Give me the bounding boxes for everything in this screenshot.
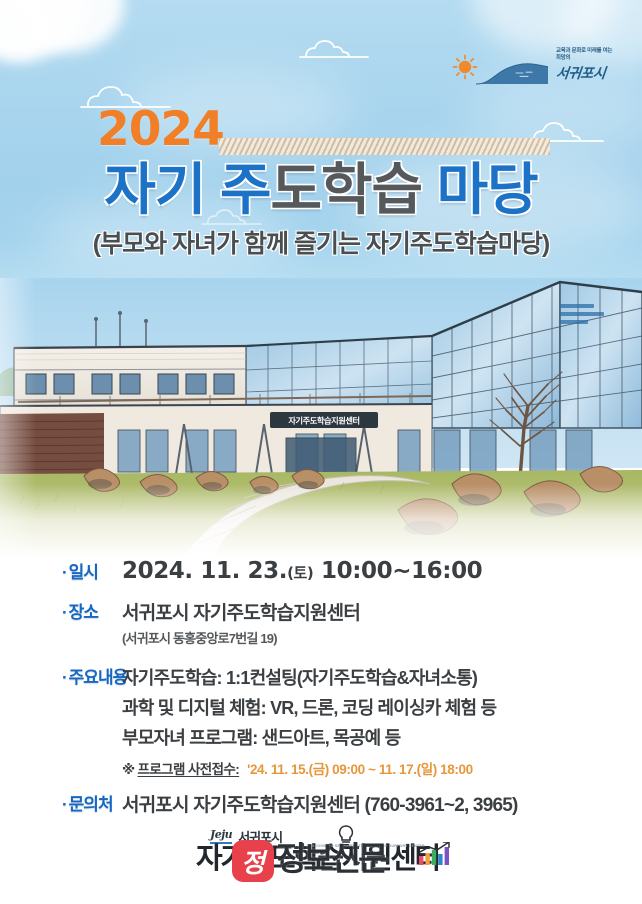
label-place: ·장소 [0,598,118,623]
jeju-wordmark: Jeju [210,828,232,844]
place-address: (서귀포시 동홍중앙로7번길 19) [122,628,642,647]
date-value: 2024. 11. 23.(토) 10:00~16:00 [122,558,642,584]
place-name: 서귀포시 자기주도학습지원센터 [122,598,642,625]
ci-text-block: 교육과 문화로 미래를 여는 희망의 서귀포시 [556,48,632,83]
ci-slogan-line2: 희망의 [556,55,632,62]
date-time: 10:00~16:00 [313,558,482,584]
year-text: 2024 [97,106,224,153]
seogwipo-city-logo: 교육과 문화로 미래를 여는 희망의 서귀포시 [452,46,630,94]
bullet-icon: · [62,668,67,687]
info-section: ·일시 2024. 11. 23.(토) 10:00~16:00 ·장소 서귀포… [0,558,642,817]
decorative-stripe-bar [219,138,550,155]
label-contact: ·문의처 [0,790,118,815]
ci-slogan: 교육과 문화로 미래를 여는 희망의 [556,48,632,62]
ci-city-name: 서귀포시 [555,63,633,83]
building-sign-text: 자기주도학습지원센터 [288,416,359,426]
info-row-place: ·장소 서귀포시 자기주도학습지원센터 (서귀포시 동홍중앙로7번길 19) [0,598,642,647]
info-row-content: ·주요내용 자기주도학습: 1:1컨설팅(자기주도학습&자녀소통) 과학 및 디… [0,663,642,778]
value-place: 서귀포시 자기주도학습지원센터 (서귀포시 동홍중앙로7번길 19) [118,598,642,647]
program-line: 과학 및 디지털 체험: VR, 드론, 코딩 레이싱카 체험 등 [122,693,642,723]
label-contact-text: 문의처 [69,795,113,814]
outline-cloud-icon [296,36,372,60]
building-illustration: 자기주도학습지원센터 [0,278,642,558]
watermark-badge-icon: 정 [232,840,274,882]
info-row-date: ·일시 2024. 11. 23.(토) 10:00~16:00 [0,558,642,584]
date-weekday: (토) [287,564,313,582]
program-line: 부모자녀 프로그램: 샌드아트, 목공예 등 [122,723,642,753]
bullet-icon: · [62,603,67,622]
bullet-icon: · [62,563,67,582]
main-title-part2: 도학습 [270,158,422,221]
label-place-text: 장소 [69,603,98,622]
main-title-part3: 마당 [422,158,538,221]
value-date: 2024. 11. 23.(토) 10:00~16:00 [118,558,642,584]
hallasan-mountain-icon [476,58,550,86]
event-poster: 교육과 문화로 미래를 여는 희망의 서귀포시 2024 자기 주도학습 마당 … [0,0,642,904]
main-title-part1: 자기 주 [104,158,270,221]
asterisk-icon: ※ [122,762,135,777]
value-content: 자기주도학습: 1:1컨설팅(자기주도학습&자녀소통) 과학 및 디지털 체험:… [118,663,642,778]
value-contact: 서귀포시 자기주도학습지원센터 (760-3961~2, 3965) [118,790,642,817]
sun-icon [452,54,478,80]
watermark-badge-glyph: 정 [232,840,274,882]
prereg-label: 프로그램 사전접수: [138,762,240,777]
info-row-contact: ·문의처 서귀포시 자기주도학습지원센터 (760-3961~2, 3965) [0,790,642,817]
subtitle-text: (부모와 자녀가 함께 즐기는 자기주도학습마당) [0,224,642,260]
bullet-icon: · [62,795,67,814]
label-content: ·주요내용 [0,663,118,688]
ci-slogan-line1: 교육과 문화로 미래를 여는 [556,48,612,54]
news-watermark: 정 정보신문 [232,836,428,884]
label-date: ·일시 [0,558,118,583]
title-block: 2024 자기 주도학습 마당 (부모와 자녀가 함께 즐기는 자기주도학습마당… [0,112,642,160]
prereg-period: '24. 11. 15.(금) 09:00 ~ 11. 17.(일) 18:00 [247,762,473,777]
label-date-text: 일시 [69,563,98,582]
contact-value: 서귀포시 자기주도학습지원센터 (760-3961~2, 3965) [122,790,642,817]
preregistration-note: ※프로그램 사전접수:'24. 11. 15.(금) 09:00 ~ 11. 1… [122,758,642,778]
main-title: 자기 주도학습 마당 [0,160,642,220]
program-line: 자기주도학습: 1:1컨설팅(자기주도학습&자녀소통) [122,663,642,693]
date-ymd: 2024. 11. 23. [122,558,287,584]
building-svg: 자기주도학습지원센터 [0,278,642,558]
watermark-text: 정보신문 [276,838,385,880]
year-row: 2024 [0,112,642,160]
